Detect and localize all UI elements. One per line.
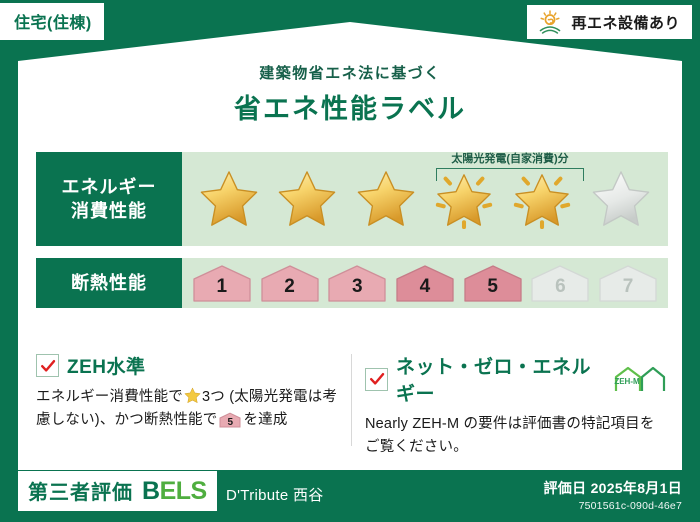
renewable-equipment-badge: 再エネ設備あり <box>527 5 692 39</box>
bels-jp-label: 第三者評価 <box>28 476 133 505</box>
star-cell <box>430 169 498 229</box>
netzero-criterion-title: ネット・ゼロ・エネルギー <box>396 352 604 406</box>
insulation-chip: 5 <box>463 263 523 303</box>
bels-logo-part2: ELS <box>160 477 207 505</box>
bels-logo-part1: B <box>142 477 160 505</box>
netzero-criterion-text: Nearly ZEH-M の要件は評価書の特記項目をご覧ください。 <box>365 413 668 460</box>
gold-star-icon <box>184 387 201 404</box>
bels-evaluation-badge: 第三者評価 BELS <box>18 471 217 511</box>
criteria-section: ZEH水準 エネルギー消費性能で3つ (太陽光発電は考慮しない)、かつ断熱性能で… <box>36 352 668 460</box>
performance-rows: エネルギー 消費性能 太陽光発電(自家消費)分 <box>36 152 668 320</box>
svg-text:ZEH-M: ZEH-M <box>614 377 640 386</box>
energy-performance-label: エネルギー 消費性能 <box>36 152 182 246</box>
renewable-badge-label: 再エネ設備あり <box>571 12 680 33</box>
label-subtitle: 建築物省エネ法に基づく <box>0 62 700 83</box>
star-cell <box>195 169 263 229</box>
zeh-criterion-text: エネルギー消費性能で3つ (太陽光発電は考慮しない)、かつ断熱性能で5を達成 <box>36 386 339 433</box>
bracket-right-tick <box>583 168 584 181</box>
property-name: D'Tribute 西谷 <box>226 484 324 505</box>
evaluation-date-label: 評価日 <box>543 480 586 496</box>
zeh-text-part3: を達成 <box>243 412 287 428</box>
zeh-criterion-header: ZEH水準 <box>36 352 339 379</box>
bels-logo: BELS <box>142 479 207 504</box>
insulation-chip: 6 <box>530 263 590 303</box>
insulation-chip: 3 <box>327 263 387 303</box>
insulation-chip: 1 <box>192 263 252 303</box>
building-type-tag: 住宅(住棟) <box>0 3 104 40</box>
inline-house-chip: 5 <box>219 412 241 428</box>
insulation-chip: 4 <box>395 263 455 303</box>
star-cell <box>273 169 341 229</box>
inline-chip-value: 5 <box>219 418 241 428</box>
insulation-chip: 2 <box>260 263 320 303</box>
label-heading-group: 建築物省エネ法に基づく 省エネ性能ラベル <box>0 62 700 126</box>
star-filled-sparkle-icon <box>433 169 495 229</box>
netzero-checkbox[interactable] <box>365 368 388 391</box>
check-icon <box>369 371 385 387</box>
zeh-criterion: ZEH水準 エネルギー消費性能で3つ (太陽光発電は考慮しない)、かつ断熱性能で… <box>36 352 339 460</box>
energy-performance-row: エネルギー 消費性能 太陽光発電(自家消費)分 <box>36 152 668 246</box>
star-filled-icon <box>198 169 260 229</box>
check-icon <box>40 358 56 374</box>
star-filled-icon <box>355 169 417 229</box>
energy-performance-label: 住宅(住棟) 再エネ設備あり 建築物省エネ法に基づく 省エネ性能ラベル <box>0 0 700 522</box>
insulation-chip-value: 3 <box>352 276 363 303</box>
page-title: 省エネ性能ラベル <box>0 87 700 126</box>
solar-bracket-label: 太陽光発電(自家消費)分 <box>451 150 568 166</box>
star-cell <box>352 169 420 229</box>
insulation-chip-value: 2 <box>284 276 295 303</box>
zeh-text-part1: エネルギー消費性能で <box>36 389 183 405</box>
energy-label-line2: 消費性能 <box>71 199 147 223</box>
netzero-criterion-header: ネット・ゼロ・エネルギー ZEH-M <box>365 352 668 406</box>
insulation-chip-value: 4 <box>420 276 431 303</box>
star-filled-sparkle-icon <box>511 169 573 229</box>
sun-renewable-icon <box>537 10 563 34</box>
evaluation-meta: 評価日 2025年8月1日 7501561c-090d-46e7 <box>543 478 682 512</box>
label-footer: 第三者評価 BELS D'Tribute 西谷 評価日 2025年8月1日 75… <box>0 470 700 522</box>
insulation-performance-row: 断熱性能 1 2 3 <box>36 258 668 308</box>
evaluation-date-value: 2025年8月1日 <box>591 480 682 496</box>
insulation-chip-value: 5 <box>487 276 498 303</box>
insulation-chip-value: 7 <box>623 276 634 303</box>
star-filled-icon <box>276 169 338 229</box>
star-cell <box>508 169 576 229</box>
insulation-chip-value: 6 <box>555 276 566 303</box>
netzero-criterion: ネット・ゼロ・エネルギー ZEH-M Nearly ZEH-M の要件は評価書の… <box>365 352 668 460</box>
evaluation-date: 評価日 2025年8月1日 <box>543 478 682 498</box>
zeh-criterion-title: ZEH水準 <box>67 352 146 379</box>
star-cell <box>587 169 655 229</box>
insulation-chip: 7 <box>598 263 658 303</box>
evaluation-id: 7501561c-090d-46e7 <box>543 500 682 512</box>
insulation-chip-track: 1 2 3 4 <box>182 258 668 308</box>
energy-star-track: 太陽光発電(自家消費)分 <box>182 152 668 246</box>
star-empty-icon <box>590 169 652 229</box>
zeh-checkbox[interactable] <box>36 354 59 377</box>
energy-label-line1: エネルギー <box>62 175 157 199</box>
insulation-chip-value: 1 <box>217 276 228 303</box>
zeh-m-logo-icon: ZEH-M <box>612 364 668 394</box>
insulation-performance-label: 断熱性能 <box>36 258 182 308</box>
